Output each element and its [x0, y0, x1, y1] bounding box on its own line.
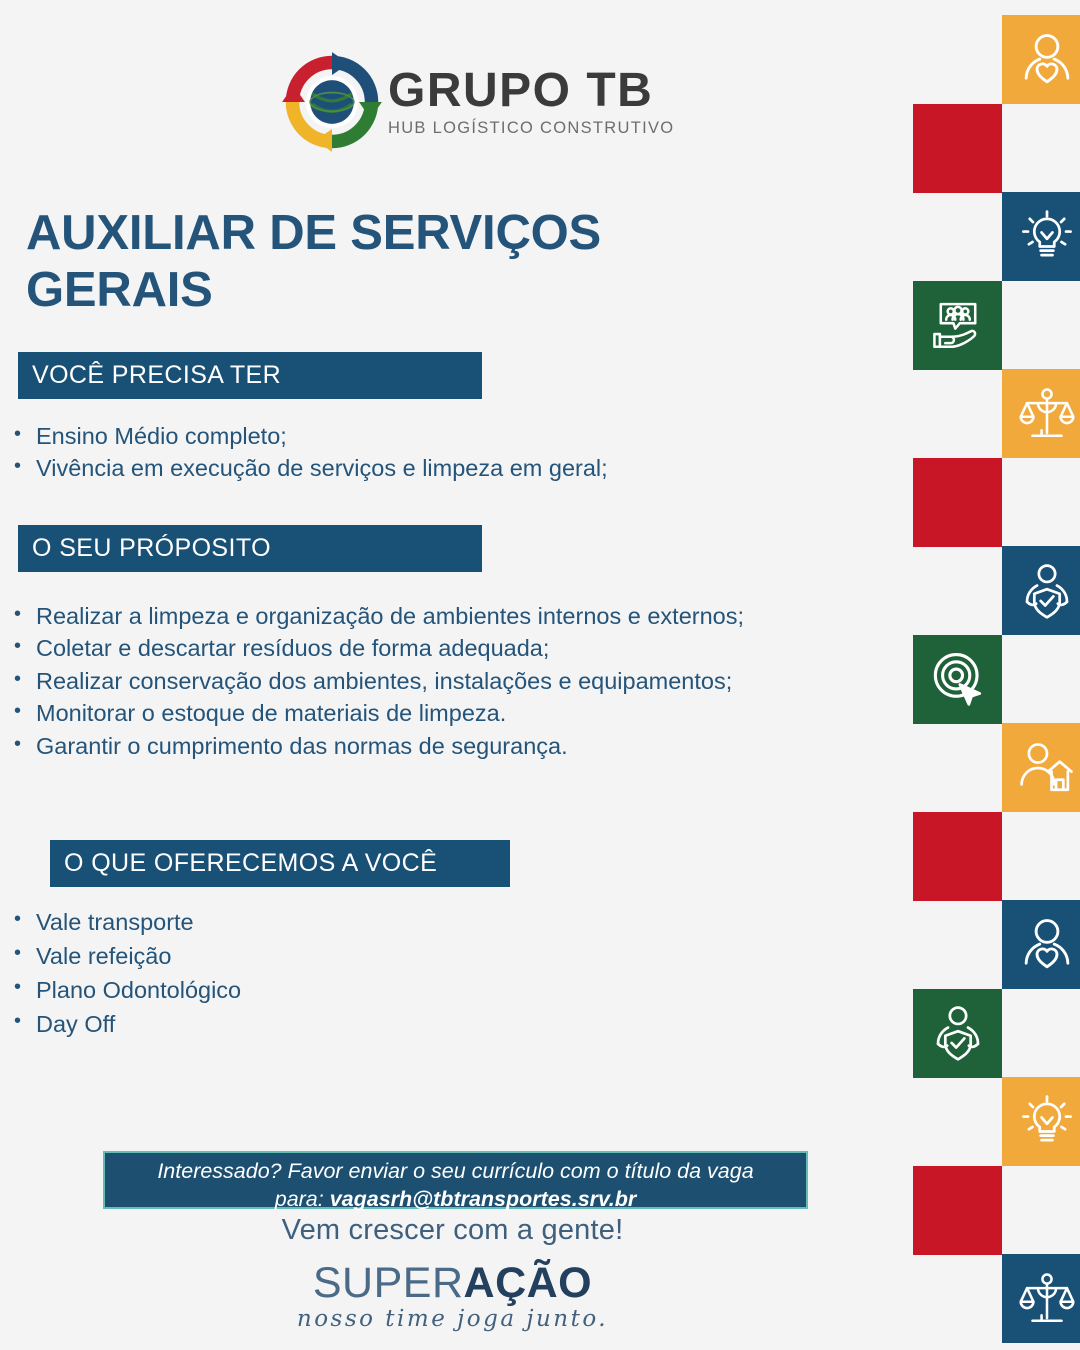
- list-item: • Vivência em execução de serviços e lim…: [14, 452, 774, 484]
- contact-cta: Vem crescer com a gente!: [0, 1214, 905, 1247]
- decorative-tile-person-shield: [913, 989, 1002, 1078]
- decorative-tile-target-cursor: [913, 635, 1002, 724]
- bullet-icon: •: [14, 697, 36, 726]
- contact-banner: Interessado? Favor enviar o seu currícul…: [103, 1151, 808, 1209]
- list-item-text: Garantir o cumprimento das normas de seg…: [36, 730, 844, 762]
- decorative-tile-lightbulb: [1002, 1077, 1080, 1166]
- scales-icon: [1018, 1270, 1076, 1328]
- contact-prefix: para:: [275, 1187, 330, 1211]
- section-heading-label: VOCÊ PRECISA TER: [32, 361, 281, 390]
- list-item-text: Ensino Médio completo;: [36, 420, 774, 452]
- person-heart-icon: [1018, 31, 1076, 89]
- contact-email[interactable]: vagasrh@tbtransportes.srv.br: [330, 1187, 637, 1211]
- superacao-lockup: SUPERAÇÃO nosso time joga junto.: [0, 1262, 905, 1332]
- list-item: • Day Off: [14, 1007, 614, 1041]
- decorative-tile-strip: [905, 0, 1080, 1350]
- decorative-tile-person-heart: [1002, 900, 1080, 989]
- list-item: • Plano Odontológico: [14, 973, 614, 1007]
- contact-line-2: para: vagasrh@tbtransportes.srv.br: [105, 1186, 806, 1214]
- list-item: • Realizar a limpeza e organização de am…: [14, 600, 844, 632]
- person-heart-icon: [1018, 916, 1076, 974]
- requirements-list: • Ensino Médio completo; • Vivência em e…: [14, 420, 774, 485]
- superacao-part-bold: AÇÃO: [464, 1259, 593, 1307]
- decorative-tile-blank: [913, 812, 1002, 901]
- bullet-icon: •: [14, 600, 36, 629]
- list-item: • Garantir o cumprimento das normas de s…: [14, 730, 844, 762]
- decorative-tile-person-shield: [1002, 546, 1080, 635]
- bullet-icon: •: [14, 905, 36, 934]
- decorative-tile-blank: [913, 104, 1002, 193]
- lightbulb-icon: [1018, 208, 1076, 266]
- bullet-icon: •: [14, 1007, 36, 1036]
- decorative-tile-lightbulb: [1002, 192, 1080, 281]
- lightbulb-icon: [1018, 1093, 1076, 1151]
- bullet-icon: •: [14, 420, 36, 449]
- bullet-icon: •: [14, 632, 36, 661]
- person-shield-icon: [1018, 562, 1076, 620]
- list-item-text: Monitorar o estoque de materiais de limp…: [36, 697, 844, 729]
- section-heading-requirements: VOCÊ PRECISA TER: [18, 352, 482, 399]
- hand-people-icon: [929, 296, 987, 354]
- section-heading-benefits: O QUE OFERECEMOS A VOCÊ: [50, 840, 510, 887]
- person-shield-icon: [929, 1004, 987, 1062]
- decorative-tile-scales: [1002, 369, 1080, 458]
- bullet-icon: •: [14, 730, 36, 759]
- section-heading-label: O QUE OFERECEMOS A VOCÊ: [64, 849, 437, 878]
- decorative-tile-blank: [913, 1166, 1002, 1255]
- list-item-text: Coletar e descartar resíduos de forma ad…: [36, 632, 844, 664]
- superacao-script-tagline: nosso time joga junto.: [0, 1306, 905, 1332]
- decorative-tile-hand-people: [913, 281, 1002, 370]
- person-house-icon: [1018, 739, 1076, 797]
- list-item-text: Vivência em execução de serviços e limpe…: [36, 452, 774, 484]
- target-cursor-icon: [929, 650, 987, 708]
- list-item-text: Vale transporte: [36, 905, 614, 939]
- purpose-list: • Realizar a limpeza e organização de am…: [14, 600, 844, 762]
- scales-icon: [1018, 385, 1076, 443]
- superacao-part-light: SUPER: [313, 1259, 464, 1307]
- section-heading-label: O SEU PRÓPOSITO: [32, 534, 271, 563]
- bullet-icon: •: [14, 939, 36, 968]
- list-item: • Realizar conservação dos ambientes, in…: [14, 665, 844, 697]
- bullet-icon: •: [14, 973, 36, 1002]
- superacao-wordmark: SUPERAÇÃO: [0, 1262, 905, 1305]
- benefits-list: • Vale transporte • Vale refeição • Plan…: [14, 905, 614, 1041]
- page-title: AUXILIAR DE SERVIÇOS GERAIS: [26, 205, 746, 320]
- list-item: • Coletar e descartar resíduos de forma …: [14, 632, 844, 664]
- contact-line-1: Interessado? Favor enviar o seu currícul…: [105, 1158, 806, 1186]
- list-item-text: Realizar conservação dos ambientes, inst…: [36, 665, 844, 697]
- decorative-tile-scales: [1002, 1254, 1080, 1343]
- decorative-tile-blank: [913, 458, 1002, 547]
- list-item: • Vale transporte: [14, 905, 614, 939]
- bullet-icon: •: [14, 452, 36, 481]
- decorative-tile-person-heart: [1002, 15, 1080, 104]
- list-item-text: Plano Odontológico: [36, 973, 614, 1007]
- list-item: • Monitorar o estoque de materiais de li…: [14, 697, 844, 729]
- job-posting-content: AUXILIAR DE SERVIÇOS GERAIS VOCÊ PRECISA…: [0, 0, 905, 1350]
- bullet-icon: •: [14, 665, 36, 694]
- list-item: • Ensino Médio completo;: [14, 420, 774, 452]
- list-item-text: Vale refeição: [36, 939, 614, 973]
- list-item-text: Realizar a limpeza e organização de ambi…: [36, 600, 844, 632]
- list-item: • Vale refeição: [14, 939, 614, 973]
- decorative-tile-person-house: [1002, 723, 1080, 812]
- section-heading-purpose: O SEU PRÓPOSITO: [18, 525, 482, 572]
- list-item-text: Day Off: [36, 1007, 614, 1041]
